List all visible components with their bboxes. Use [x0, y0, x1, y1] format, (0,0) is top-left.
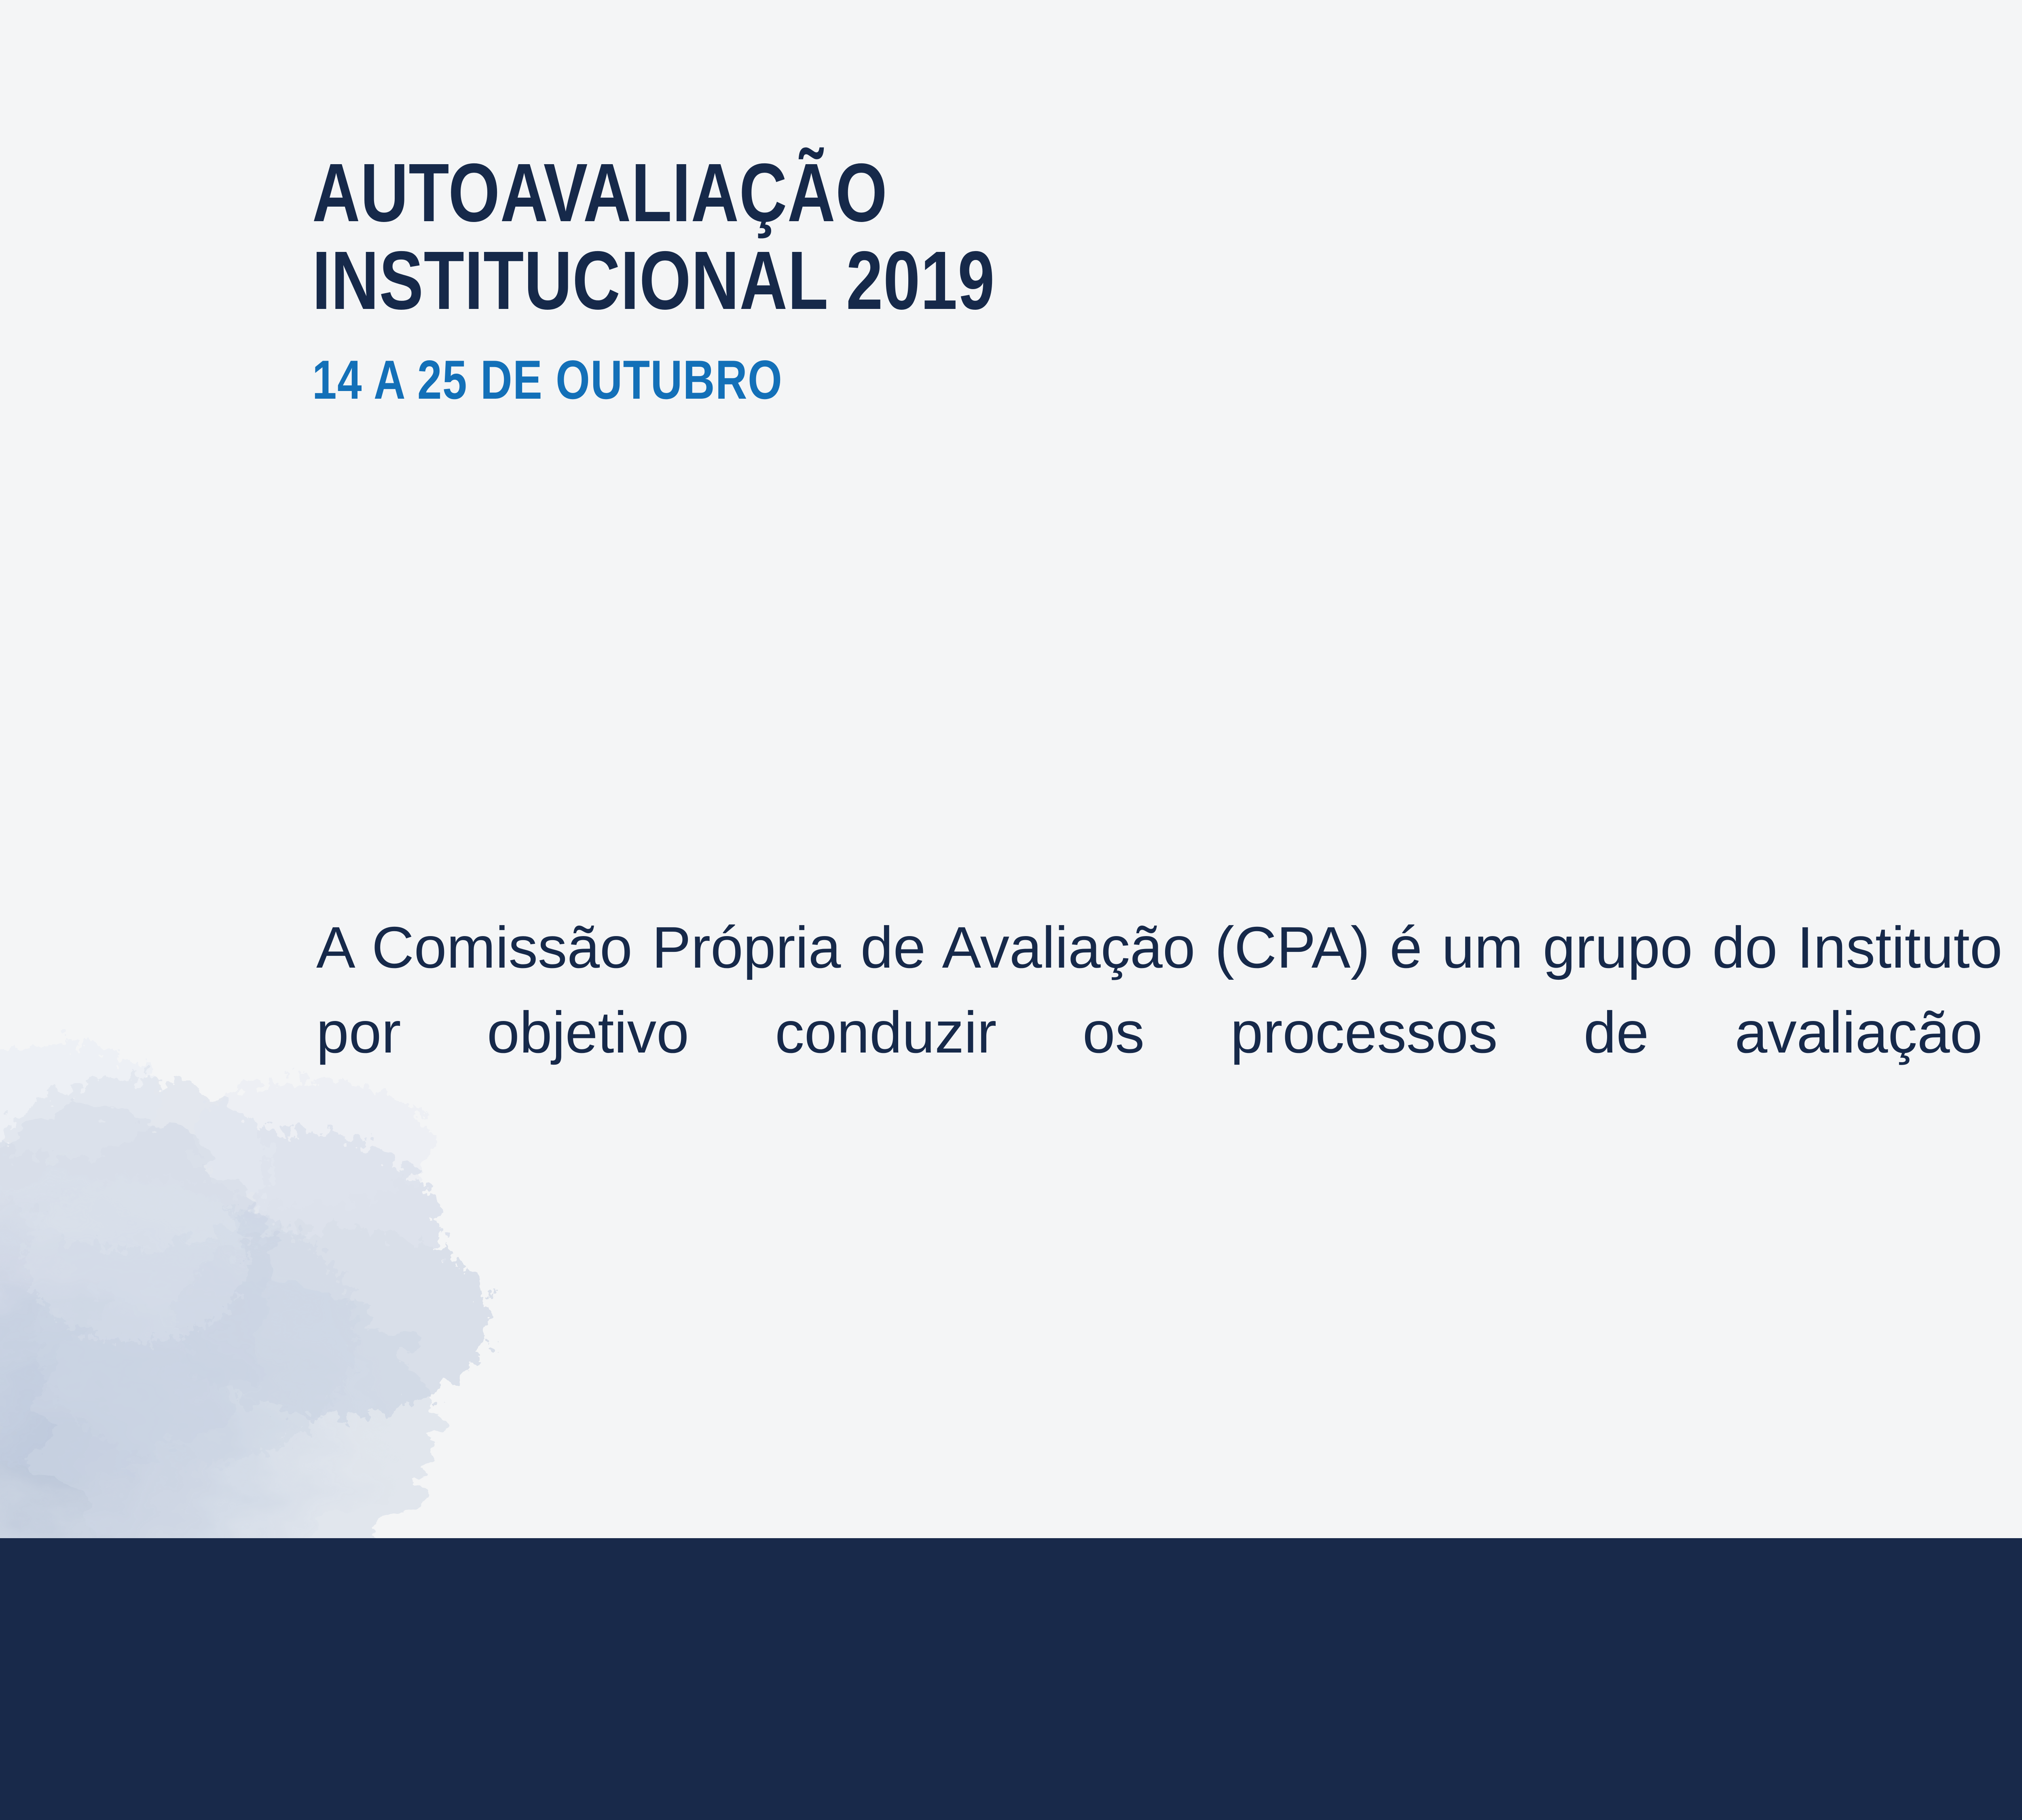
- left-headline-block: AUTOAVALIAÇÃO INSTITUCIONAL 2019 14 A 25…: [312, 149, 1606, 411]
- right-headline-block: VOCÊ SABE O QUE É A CPA?: [1666, 146, 2022, 380]
- headline-o-que-e-a-cpa: O QUE É A CPA?: [1885, 274, 2022, 380]
- poster-canvas: AUTOAVALIAÇÃO INSTITUCIONAL 2019 14 A 25…: [0, 0, 2022, 1820]
- event-dates-label: 14 A 25 DE OUTUBRO: [312, 348, 1347, 411]
- watercolor-splash-mid-left-icon: [0, 1112, 396, 1557]
- body-paragraph: A Comissão Própria de Avaliação (CPA) é …: [316, 905, 2022, 1160]
- headline-voce-sabe: VOCÊ SABE: [1885, 146, 2022, 252]
- footer-bar: INSTITUTO FEDERAL Catarinense: [0, 1538, 2022, 1820]
- headline-autoavaliacao: AUTOAVALIAÇÃO: [312, 149, 1347, 237]
- headline-institucional-2019: INSTITUCIONAL 2019: [312, 237, 1347, 324]
